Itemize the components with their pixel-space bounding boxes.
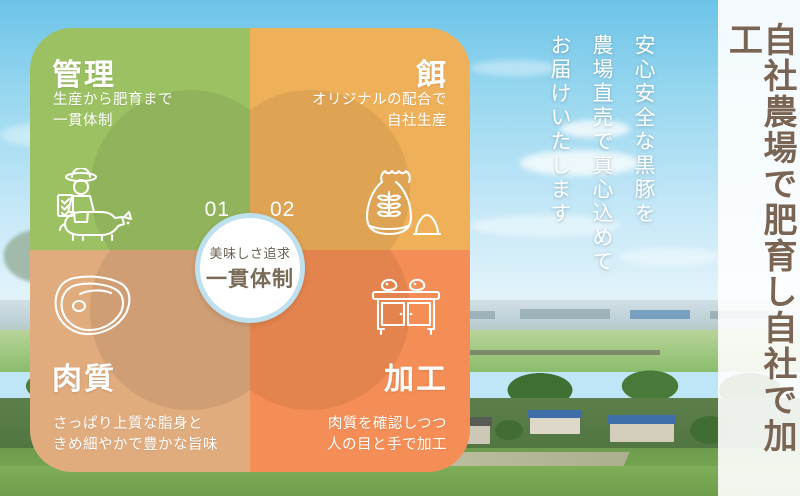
card-description-line-2: 一貫体制	[53, 111, 173, 132]
card-description-line-1: オリジナルの配合で	[312, 90, 447, 111]
lead-column-3: お届けいたします	[549, 34, 570, 226]
cloud	[520, 150, 640, 176]
card-description-line-1: さっぱり上質な脂身と	[53, 414, 218, 435]
cloud	[470, 60, 560, 76]
headline-text: 自社農場で肥育し自社で加工	[725, 22, 794, 474]
card-description-line-2: 人の目と手で加工	[327, 435, 447, 456]
cloud	[620, 248, 720, 266]
card-title: 餌	[416, 50, 448, 94]
feature-card-01[interactable]: 01 管理 生産から肥育まで 一貫体制	[30, 28, 250, 250]
card-title: 肉質	[52, 354, 116, 398]
feature-card-02[interactable]: 02 餌 オリジナルの配合で 自社生産	[250, 28, 470, 250]
card-description: 生産から肥育まで 一貫体制	[53, 90, 173, 132]
feed-sack-icon	[360, 168, 448, 242]
badge-small-text: 美味しさ追求	[209, 243, 290, 262]
card-description: オリジナルの配合で 自社生産	[312, 90, 447, 132]
card-description: さっぱり上質な脂身と きめ細やかで豊かな旨味	[53, 414, 218, 456]
badge-large-text: 一貫体制	[206, 263, 294, 293]
card-description-line-1: 生産から肥育まで	[53, 90, 173, 111]
card-description-line-1: 肉質を確認しつつ	[327, 414, 447, 435]
card-title: 管理	[52, 50, 116, 94]
card-title: 加工	[384, 354, 448, 398]
card-description-line-2: 自社生産	[312, 111, 447, 132]
meat-cut-icon	[52, 272, 138, 338]
card-description: 肉質を確認しつつ 人の目と手で加工	[327, 414, 447, 456]
infographic-banner: 01 管理 生産から肥育まで 一貫体制	[0, 0, 800, 496]
lead-column-1: 安心安全な黒豚を	[633, 34, 654, 226]
processing-table-icon	[368, 272, 448, 342]
card-description-line-2: きめ細やかで豊かな旨味	[53, 435, 218, 456]
center-badge: 美味しさ追求 一貫体制	[195, 213, 305, 323]
farmer-with-pig-icon	[52, 168, 144, 242]
lead-column-2: 農場直売で真心込めて	[591, 34, 612, 274]
